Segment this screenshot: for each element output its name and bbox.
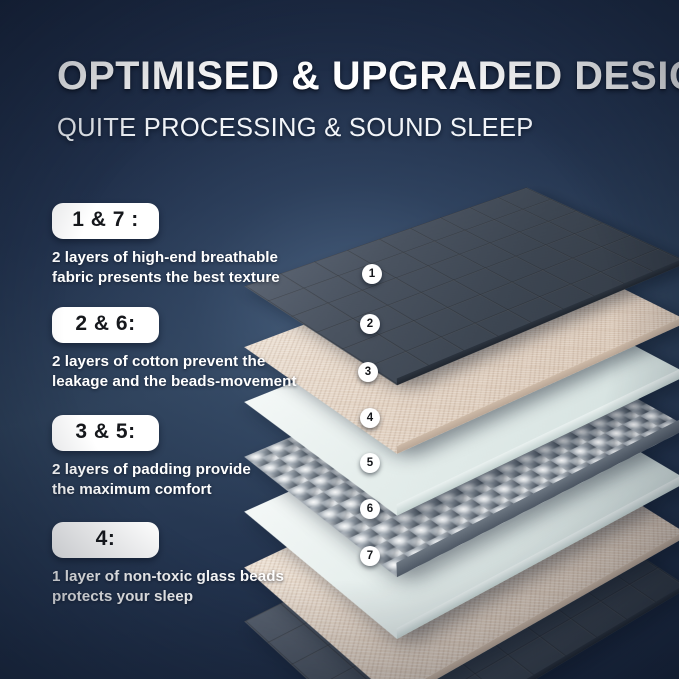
feature-card-4-line-2: protects your sleep [52,587,352,607]
infographic-canvas: OPTIMISED & UPGRADED DESIGN QUITE PROCES… [0,0,679,679]
feature-card-4-description: 1 layer of non-toxic glass beads protect… [52,567,352,607]
feature-card-3-line-1: 2 layers of padding provide [52,460,352,480]
feature-card-2-description: 2 layers of cotton prevent the leakage a… [52,352,352,392]
feature-card-1-badge: 1 & 7 : [52,203,159,239]
page-subtitle: QUITE PROCESSING & SOUND SLEEP [57,114,657,143]
layer-badge-3: 3 [358,362,378,382]
layer-badge-7: 7 [360,546,380,566]
feature-card-4-line-1: 1 layer of non-toxic glass beads [52,567,352,587]
feature-card-2: 2 & 6: 2 layers of cotton prevent the le… [52,307,352,392]
feature-card-4-badge: 4: [52,522,159,558]
header-block: OPTIMISED & UPGRADED DESIGN QUITE PROCES… [57,56,657,143]
page-title: OPTIMISED & UPGRADED DESIGN [57,56,657,97]
feature-card-2-line-2: leakage and the beads-movement [52,372,352,392]
feature-card-1-line-2: fabric presents the best texture [52,268,352,288]
layer-badge-1: 1 [362,264,382,284]
feature-card-2-line-1: 2 layers of cotton prevent the [52,352,352,372]
feature-card-1: 1 & 7 : 2 layers of high-end breathable … [52,203,352,288]
feature-card-3-line-2: the maximum comfort [52,480,352,500]
layer-badge-2: 2 [360,314,380,334]
feature-card-3: 3 & 5: 2 layers of padding provide the m… [52,415,352,500]
feature-card-2-badge: 2 & 6: [52,307,159,343]
layer-badge-4: 4 [360,408,380,428]
feature-card-3-description: 2 layers of padding provide the maximum … [52,460,352,500]
layer-badge-6: 6 [360,499,380,519]
feature-card-1-description: 2 layers of high-end breathable fabric p… [52,248,352,288]
feature-card-3-badge: 3 & 5: [52,415,159,451]
feature-card-1-line-1: 2 layers of high-end breathable [52,248,352,268]
layer-badge-5: 5 [360,453,380,473]
feature-card-4: 4: 1 layer of non-toxic glass beads prot… [52,522,352,607]
